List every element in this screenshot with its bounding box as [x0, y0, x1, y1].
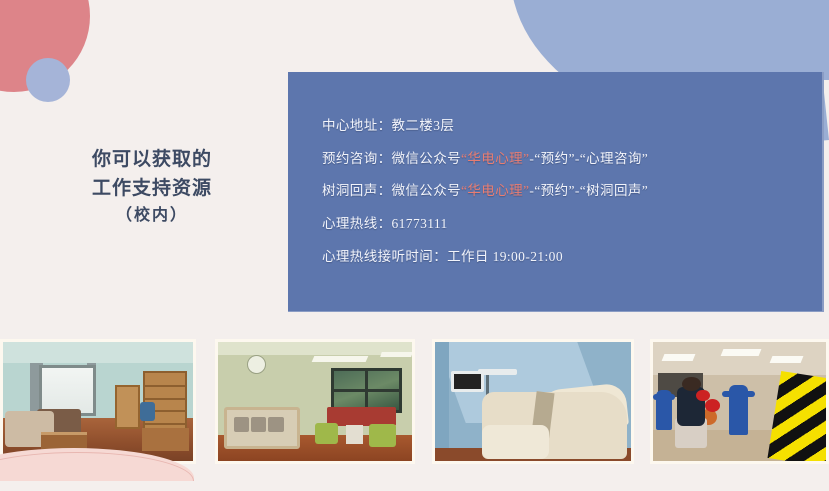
info-line-label: 树洞回声： [322, 183, 392, 198]
info-line-label: 预约咨询： [322, 151, 392, 166]
decorative-circle-red [0, 0, 90, 92]
info-line-label: 中心地址： [322, 118, 392, 133]
photo-relaxation-chair-image [435, 342, 631, 461]
info-plain-text: 61773111 [392, 216, 448, 231]
info-line-2: 预约咨询：微信公众号“华电心理”-“预约”-“心理咨询” [322, 143, 792, 176]
info-plain-text: 微信公众号 [392, 183, 462, 198]
photo-counseling-room[interactable] [0, 339, 196, 464]
info-plain-text: 微信公众号 [392, 151, 462, 166]
info-line-1: 中心地址：教二楼3层 [322, 110, 792, 143]
photo-strip[interactable]: 1/11 [0, 339, 829, 464]
photo-relaxation-chair[interactable] [432, 339, 634, 464]
photo-stress-release-room-image [653, 342, 826, 461]
page-title: 你可以获取的 工作支持资源 （校内） [52, 146, 252, 228]
page-title-line-3: （校内） [52, 204, 252, 228]
photo-stress-release-room[interactable] [650, 339, 829, 464]
info-plain-text: -“预约”-“树洞回声” [529, 183, 648, 198]
info-panel-text: 中心地址：教二楼3层预约咨询：微信公众号“华电心理”-“预约”-“心理咨询”树洞… [322, 110, 792, 273]
page-title-line-1: 你可以获取的 [52, 146, 252, 175]
info-accent-text: “华电心理” [461, 151, 529, 166]
info-plain-text: 工作日 19:00-21:00 [447, 249, 563, 264]
info-line-4: 心理热线：61773111 [322, 208, 792, 241]
info-line-label: 心理热线接听时间： [322, 249, 447, 264]
info-line-3: 树洞回声：微信公众号“华电心理”-“预约”-“树洞回声” [322, 175, 792, 208]
info-panel: 中心地址：教二楼3层预约咨询：微信公众号“华电心理”-“预约”-“心理咨询”树洞… [288, 72, 824, 312]
photo-group-room-image [218, 342, 412, 461]
slide-canvas: 你可以获取的 工作支持资源 （校内） 中心地址：教二楼3层预约咨询：微信公众号“… [0, 0, 829, 491]
photo-group-room[interactable] [215, 339, 415, 464]
page-title-line-2: 工作支持资源 [52, 175, 252, 204]
info-accent-text: “华电心理” [461, 183, 529, 198]
info-line-5: 心理热线接听时间：工作日 19:00-21:00 [322, 241, 792, 274]
decorative-wave-blue-secondary [624, 0, 829, 80]
info-plain-text: -“预约”-“心理咨询” [529, 151, 648, 166]
horizontal-scrollbar-track[interactable] [0, 481, 829, 491]
photo-counseling-room-image [3, 342, 193, 461]
decorative-circle-blue [26, 58, 70, 102]
info-line-label: 心理热线： [322, 216, 392, 231]
info-plain-text: 教二楼3层 [392, 118, 455, 133]
